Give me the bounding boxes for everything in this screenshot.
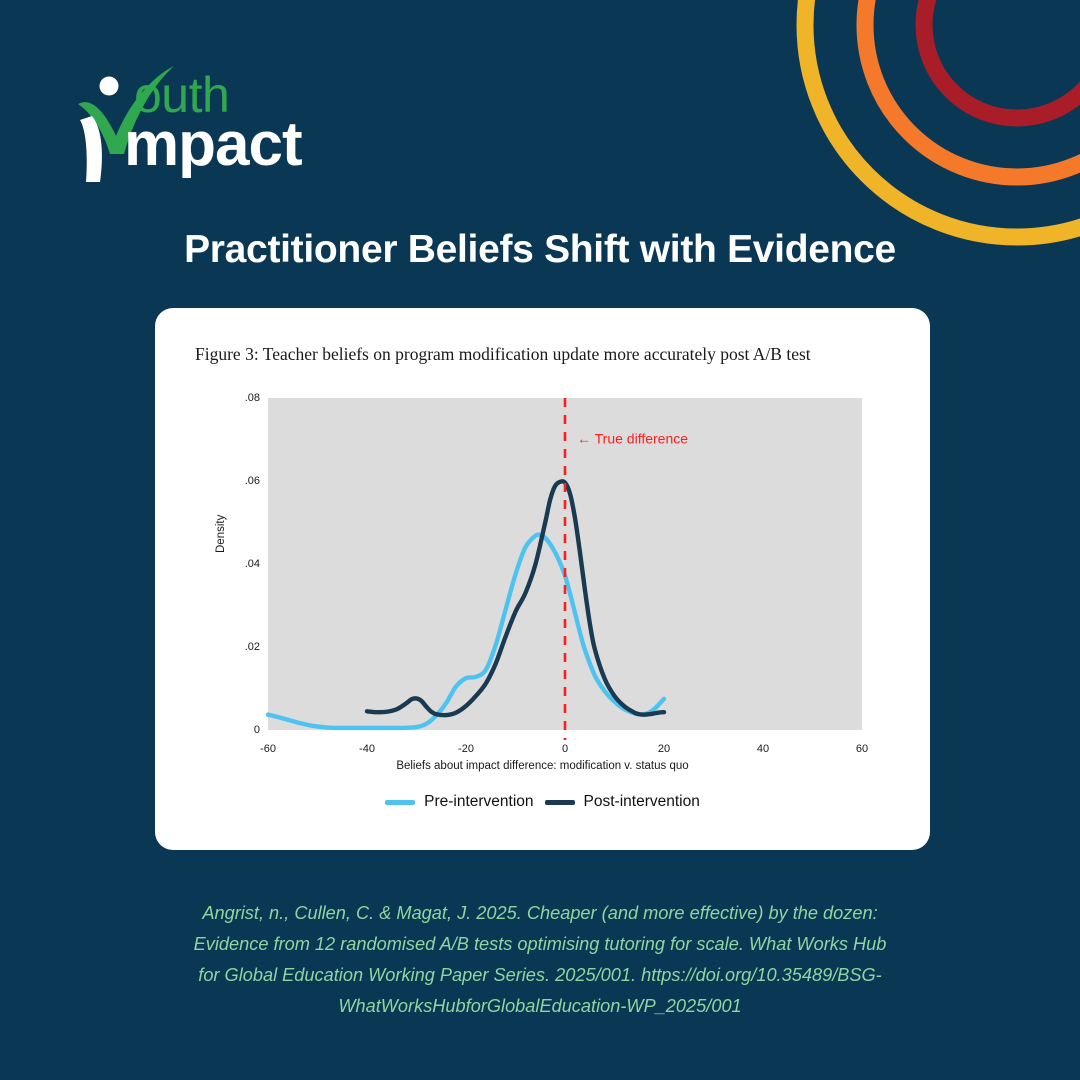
figure-card: Figure 3: Teacher beliefs on program mod… [155,308,930,850]
arc-yellow [805,0,1080,237]
arc-darkred [924,0,1080,118]
page-title: Practitioner Beliefs Shift with Evidence [0,228,1080,272]
legend-swatch-icon [545,800,575,805]
brand-logo: outh mpact [72,62,342,187]
arcs-svg [750,0,1080,330]
poster-canvas: outh mpact Practitioner Beliefs Shift wi… [0,0,1080,1080]
legend-item[interactable]: Post-intervention [545,793,700,811]
plot-area: ← True difference [155,308,930,850]
citation-line: for Global Education Working Paper Serie… [120,960,960,991]
plot-background [268,398,862,730]
chart-legend: Pre-interventionPost-intervention [155,793,930,811]
chart: 0.02.04.06.08 -60-40-200204060 Density B… [155,308,930,850]
citation-text: Angrist, n., Cullen, C. & Magat, J. 2025… [120,898,960,1022]
legend-label: Post-intervention [584,793,700,811]
logo-text-impact: mpact [124,114,302,176]
true-difference-annotation: ← True difference [577,431,688,447]
citation-line: Angrist, n., Cullen, C. & Magat, J. 2025… [120,898,960,929]
decorative-arcs [750,0,1080,330]
legend-label: Pre-intervention [424,793,533,811]
legend-swatch-icon [385,800,415,805]
citation-line: Evidence from 12 randomised A/B tests op… [120,929,960,960]
arc-orange [865,0,1080,177]
citation-line: WhatWorksHubforGlobalEducation-WP_2025/0… [120,991,960,1022]
legend-item[interactable]: Pre-intervention [385,793,533,811]
